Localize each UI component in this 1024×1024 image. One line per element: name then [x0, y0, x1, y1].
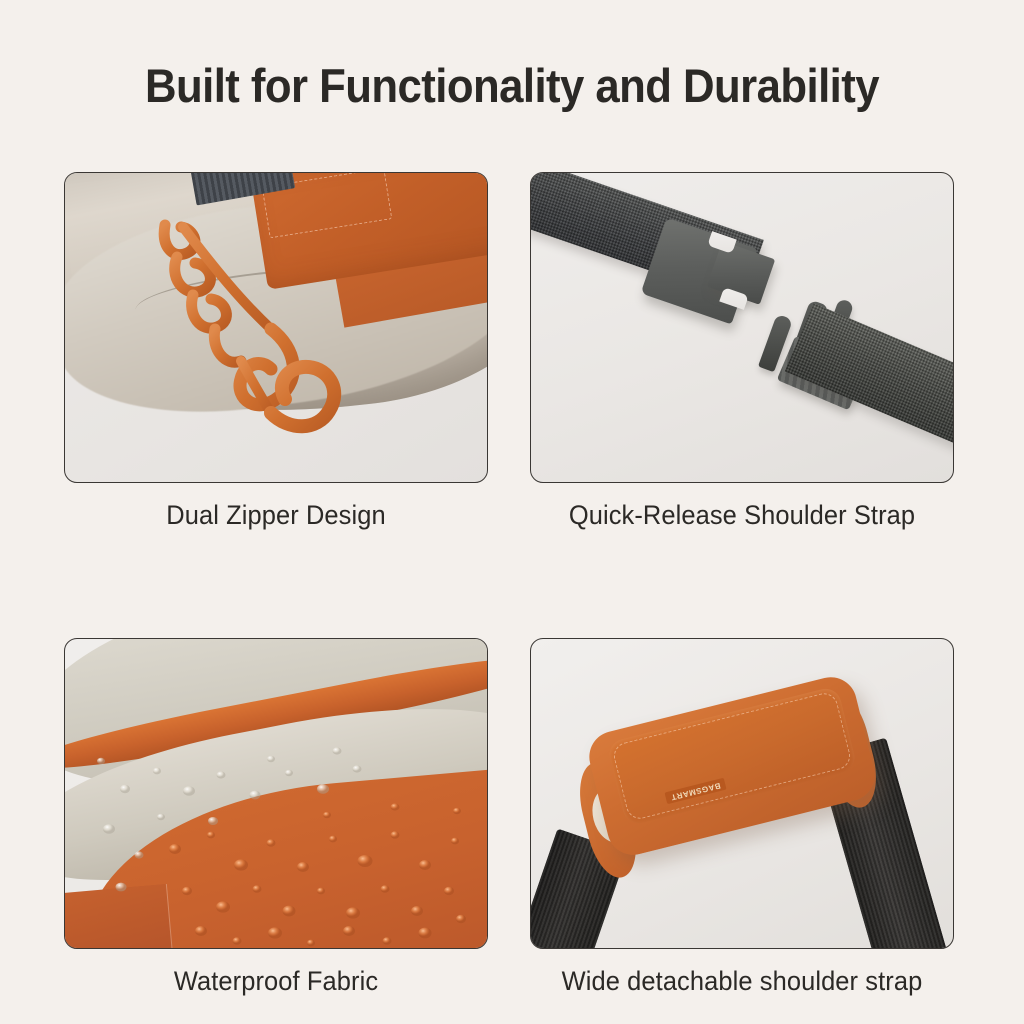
feature-caption-dual-zipper-design: Dual Zipper Design [72, 500, 479, 531]
feature-caption-wide-detachable-shoulder-strap: Wide detachable shoulder strap [538, 966, 945, 997]
feature-caption-waterproof-fabric: Waterproof Fabric [72, 966, 479, 997]
feature-card-waterproof-fabric: Waterproof Fabric [64, 638, 488, 997]
zipper-pull-cords-icon [65, 173, 488, 483]
feature-card-dual-zipper-design: Dual Zipper Design [64, 172, 488, 531]
feature-image-waterproof-fabric [64, 638, 488, 949]
feature-image-dual-zipper-design [64, 172, 488, 483]
feature-grid: Dual Zipper Design Quick-Release Shoulde… [64, 172, 954, 997]
page-title: Built for Functionality and Durability [36, 58, 988, 113]
feature-card-wide-detachable-shoulder-strap: BAGSMART Wide detachable shoulder strap [530, 638, 954, 997]
feature-card-quick-release-shoulder-strap: Quick-Release Shoulder Strap [530, 172, 954, 531]
feature-caption-quick-release-shoulder-strap: Quick-Release Shoulder Strap [538, 500, 945, 531]
feature-grid-page: Built for Functionality and Durability [0, 0, 1024, 1024]
feature-image-quick-release-shoulder-strap [530, 172, 954, 483]
water-droplets-icon [65, 639, 488, 949]
feature-image-wide-detachable-shoulder-strap: BAGSMART [530, 638, 954, 949]
